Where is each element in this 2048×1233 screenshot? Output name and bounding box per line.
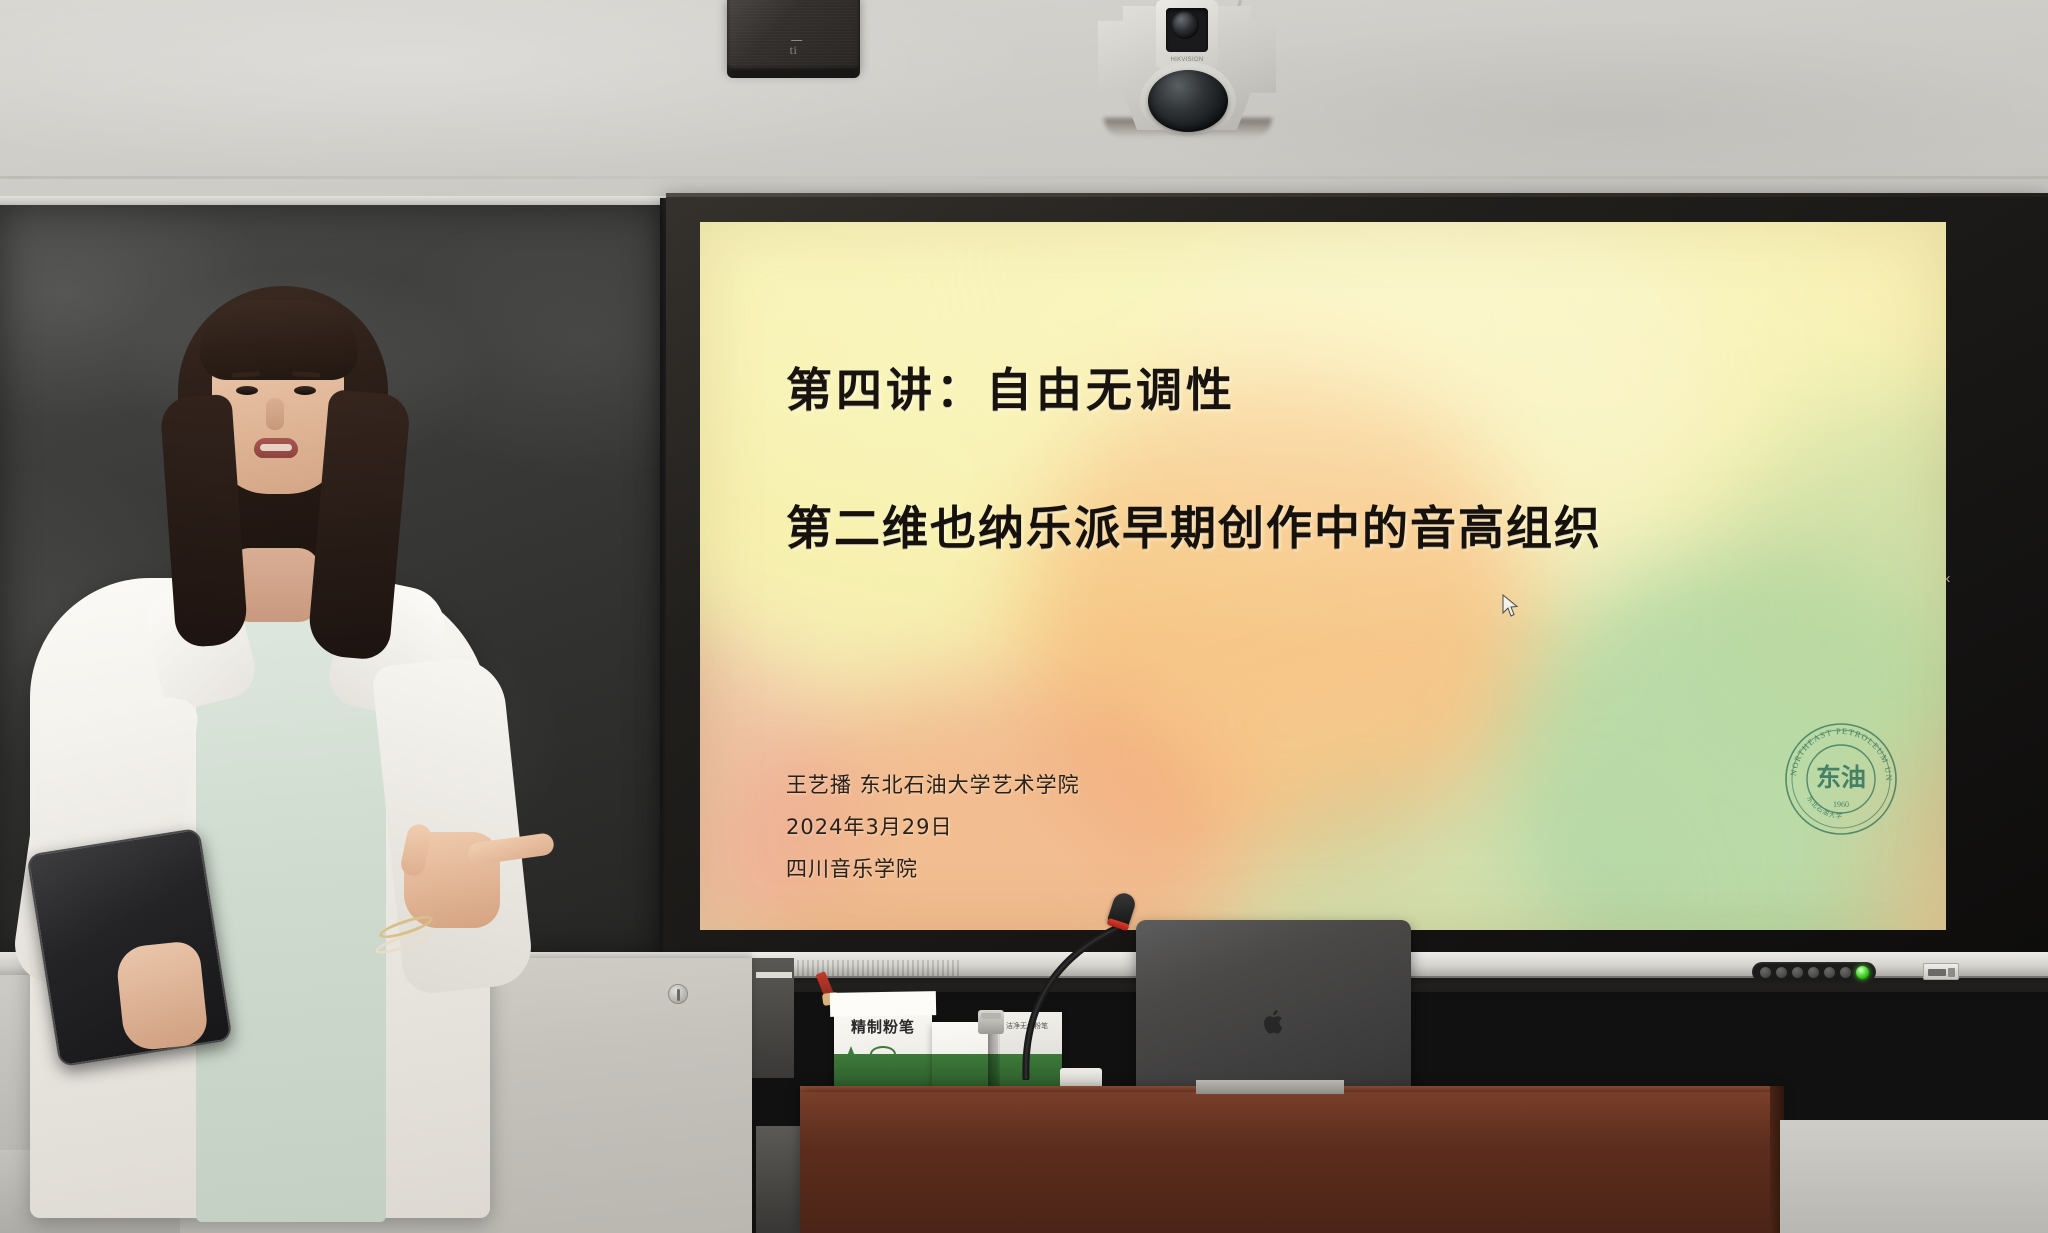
camera-dome-lens-icon [1148, 70, 1228, 132]
university-logo: NORTHEAST PETROLEUM UNIVERSITY 东北石油大学 东油… [1782, 720, 1900, 838]
presentation-screen[interactable]: 第四讲：自由无调性 第二维也纳乐派早期创作中的音高组织 王艺播 东北石油大学艺术… [700, 222, 1946, 930]
slide-footer-venue: 四川音乐学院 [786, 848, 1080, 890]
laptop[interactable] [1136, 920, 1411, 1100]
presenter-nose [266, 398, 284, 430]
chalk-box-green-band [834, 1054, 932, 1088]
slide-title-line-1: 第四讲：自由无调性 [786, 354, 1236, 420]
microphone-base-connector [978, 1010, 1004, 1034]
control-button-6[interactable] [1840, 967, 1851, 978]
presenter-eye-left [236, 386, 258, 395]
lecture-hall-scene: ti HIKVISION ‹ 第四讲：自由无调性 第 [0, 0, 2048, 1233]
cabinet-shelf [756, 972, 792, 978]
control-button-5[interactable] [1824, 967, 1835, 978]
svg-text:1960: 1960 [1833, 800, 1849, 809]
control-button-1[interactable] [1760, 967, 1771, 978]
control-button-3[interactable] [1792, 967, 1803, 978]
slide-footer-date: 2024年3月29日 [786, 806, 1080, 848]
power-led-indicator [1856, 966, 1869, 979]
speaker-grille [729, 0, 858, 68]
wall-seam [0, 176, 2048, 179]
control-button-2[interactable] [1776, 967, 1787, 978]
usb-port-plate[interactable] [1923, 963, 1959, 980]
svg-text:东油: 东油 [1816, 763, 1866, 792]
chalk-box-label: 精制粉笔 [834, 1016, 932, 1037]
presenter-eye-right [294, 386, 316, 395]
speaker-brand-label: ti [790, 44, 798, 56]
slide-footer-author: 王艺播 东北石油大学艺术学院 [786, 764, 1080, 806]
chalk-box-flap [830, 991, 936, 1017]
mouse-pointer-icon [1502, 594, 1518, 618]
presenter-mouth [254, 438, 298, 458]
display-bezel-highlight [666, 193, 2048, 197]
lectern-grey-tray [1196, 1080, 1344, 1094]
slide-title-line-2: 第二维也纳乐派早期创作中的音高组织 [786, 492, 1602, 558]
chalk-box-primary[interactable]: 精制粉笔 [834, 1002, 932, 1088]
display-control-panel[interactable] [1752, 962, 1876, 982]
cabinet-lock-icon[interactable] [668, 984, 688, 1004]
floor-right [1780, 1120, 2048, 1233]
slide-content: 第四讲：自由无调性 第二维也纳乐派早期创作中的音高组织 王艺播 东北石油大学艺术… [700, 222, 1946, 930]
apple-logo-icon [1262, 1008, 1286, 1036]
wooden-lectern [800, 1092, 1780, 1233]
presenter-hand-holding-tablet [115, 940, 209, 1052]
control-button-4[interactable] [1808, 967, 1819, 978]
ceiling-speaker: ti [727, 0, 860, 70]
presenter-hair-fringe [200, 300, 358, 380]
camera-lens-icon [1171, 11, 1199, 39]
slide-footer: 王艺播 东北石油大学艺术学院 2024年3月29日 四川音乐学院 [786, 764, 1080, 890]
